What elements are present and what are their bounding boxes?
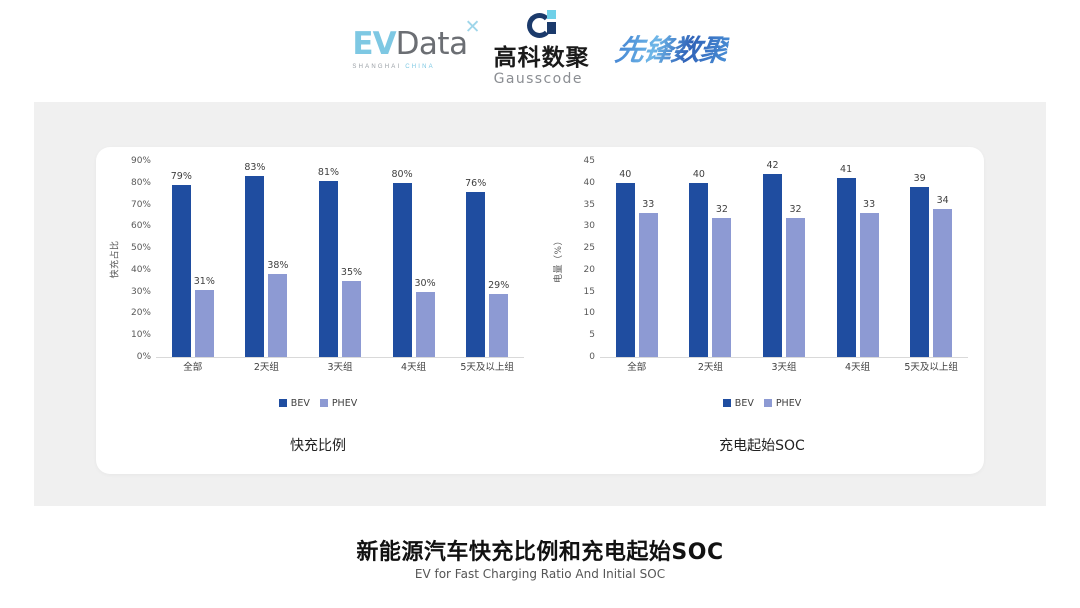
legend-swatch-icon	[764, 399, 772, 407]
y-tick: 20%	[131, 308, 151, 318]
chart-initial-soc: 电量（%） 45 40 35 30 25 20 15 10 5 0 403	[540, 147, 984, 474]
legend-item-bev[interactable]: BEV	[723, 398, 754, 409]
x-axis-labels-left: 全部2天组3天组4天组5天及以上组	[156, 359, 524, 377]
plot-area-right: 40334032423241333934	[600, 161, 968, 358]
bar-group: 81%35%	[303, 161, 377, 357]
bar-value-label: 38%	[267, 260, 288, 271]
bar-group: 4033	[600, 161, 674, 357]
y-tick: 20	[584, 265, 595, 275]
bar-phev: 33	[860, 213, 879, 357]
y-tick: 45	[584, 156, 595, 166]
evdata-tagline-city: SHANGHAI	[352, 64, 401, 70]
bar-value-label: 33	[642, 199, 654, 210]
bar-value-label: 41	[840, 164, 852, 175]
bar-value-label: 40	[619, 169, 631, 180]
bar-bev: 39	[910, 187, 929, 357]
legend-label: PHEV	[776, 398, 801, 409]
bar-phev: 29%	[489, 294, 508, 357]
chart-caption-left: 快充比例	[96, 435, 540, 455]
y-tick: 40%	[131, 265, 151, 275]
bar-value-label: 40	[693, 169, 705, 180]
y-tick: 10%	[131, 330, 151, 340]
y-tick: 80%	[131, 178, 151, 188]
y-tick: 90%	[131, 156, 151, 166]
bar-phev: 38%	[268, 274, 287, 357]
legend-label: BEV	[291, 398, 310, 409]
y-tick: 0	[589, 352, 595, 362]
x-axis-tick-label: 全部	[600, 359, 674, 377]
evdata-prefix: EV	[352, 26, 395, 62]
page-subtitle: EV for Fast Charging Ratio And Initial S…	[0, 567, 1080, 581]
bar-value-label: 39	[914, 173, 926, 184]
y-axis-ticks-right: 45 40 35 30 25 20 15 10 5 0	[564, 161, 598, 357]
bar-value-label: 79%	[171, 171, 192, 182]
bar-value-label: 33	[863, 199, 875, 210]
bar-phev: 35%	[342, 281, 361, 357]
x-axis-tick-label: 2天组	[674, 359, 748, 377]
content-panel: 快充占比 90% 80% 70% 60% 50% 40% 30% 20% 10%…	[34, 102, 1046, 506]
legend-swatch-icon	[723, 399, 731, 407]
x-axis-tick-label: 4天组	[821, 359, 895, 377]
bar-value-label: 76%	[465, 178, 486, 189]
x-axis-tick-label: 5天及以上组	[894, 359, 968, 377]
charts-card: 快充占比 90% 80% 70% 60% 50% 40% 30% 20% 10%…	[96, 147, 984, 474]
bar-bev: 76%	[466, 192, 485, 358]
xianfeng-wordmark: 先锋数聚	[612, 27, 731, 69]
bar-bev: 40	[616, 183, 635, 357]
bar-value-label: 30%	[415, 278, 436, 289]
evdata-suffix: Data	[396, 26, 468, 62]
y-tick: 30	[584, 221, 595, 231]
bar-phev: 30%	[416, 292, 435, 357]
bar-bev: 83%	[245, 176, 264, 357]
bar-bev: 79%	[172, 185, 191, 357]
bar-group: 83%38%	[230, 161, 304, 357]
bar-group: 4032	[674, 161, 748, 357]
bar-phev: 33	[639, 213, 658, 357]
y-tick: 70%	[131, 200, 151, 210]
bar-bev: 42	[763, 174, 782, 357]
logo-xianfeng: 先锋数聚	[616, 27, 728, 69]
gausscode-cn-name: 高科数聚	[494, 47, 590, 70]
y-tick: 40	[584, 178, 595, 188]
bar-value-label: 29%	[488, 280, 509, 291]
y-axis-ticks-left: 90% 80% 70% 60% 50% 40% 30% 20% 10% 0%	[120, 161, 154, 357]
bar-group: 76%29%	[450, 161, 524, 357]
legend-item-phev[interactable]: PHEV	[764, 398, 801, 409]
bar-group: 79%31%	[156, 161, 230, 357]
bar-value-label: 32	[789, 204, 801, 215]
x-axis-tick-label: 4天组	[377, 359, 451, 377]
legend-label: PHEV	[332, 398, 357, 409]
chart-fast-charging-ratio: 快充占比 90% 80% 70% 60% 50% 40% 30% 20% 10%…	[96, 147, 540, 474]
bar-value-label: 80%	[392, 169, 413, 180]
bar-phev: 32	[786, 218, 805, 357]
bar-bev: 81%	[319, 181, 338, 357]
y-tick: 35	[584, 200, 595, 210]
bar-value-label: 34	[937, 195, 949, 206]
y-tick: 30%	[131, 287, 151, 297]
y-tick: 50%	[131, 243, 151, 253]
x-axis-labels-right: 全部2天组3天组4天组5天及以上组	[600, 359, 968, 377]
gausscode-en-name: Gausscode	[494, 72, 590, 86]
x-axis-tick-label: 5天及以上组	[450, 359, 524, 377]
y-tick: 60%	[131, 221, 151, 231]
x-axis-tick-label: 2天组	[230, 359, 304, 377]
evdata-x-icon: ✕	[465, 16, 481, 39]
legend-item-bev[interactable]: BEV	[279, 398, 310, 409]
logo-evdata: EV Data ✕ SHANGHAI CHINA	[352, 26, 467, 70]
bar-phev: 32	[712, 218, 731, 357]
y-tick: 15	[584, 287, 595, 297]
bar-phev: 34	[933, 209, 952, 357]
bar-value-label: 83%	[244, 162, 265, 173]
bar-bev: 40	[689, 183, 708, 357]
bar-value-label: 35%	[341, 267, 362, 278]
bar-group: 4232	[747, 161, 821, 357]
bar-phev: 31%	[195, 290, 214, 358]
y-tick: 5	[589, 330, 595, 340]
bar-value-label: 42	[766, 160, 778, 171]
bar-group: 3934	[894, 161, 968, 357]
bar-bev: 41	[837, 178, 856, 357]
x-axis-tick-label: 3天组	[747, 359, 821, 377]
x-axis-tick-label: 全部	[156, 359, 230, 377]
x-axis-tick-label: 3天组	[303, 359, 377, 377]
y-tick: 0%	[137, 352, 151, 362]
logo-bar: EV Data ✕ SHANGHAI CHINA 高科数聚 Gausscode …	[0, 18, 1080, 78]
legend-left: BEVPHEV	[96, 395, 540, 411]
legend-swatch-icon	[320, 399, 328, 407]
legend-right: BEVPHEV	[540, 395, 984, 411]
bar-bev: 80%	[393, 183, 412, 357]
y-tick: 10	[584, 308, 595, 318]
legend-item-phev[interactable]: PHEV	[320, 398, 357, 409]
bar-value-label: 31%	[194, 276, 215, 287]
logo-gausscode: 高科数聚 Gausscode	[494, 10, 590, 86]
chart-caption-right: 充电起始SOC	[540, 435, 984, 455]
charts-container: 快充占比 90% 80% 70% 60% 50% 40% 30% 20% 10%…	[96, 147, 984, 474]
gausscode-c-mark-icon	[527, 10, 557, 40]
evdata-tagline-country: CHINA	[405, 64, 435, 70]
bar-group: 4133	[821, 161, 895, 357]
y-tick: 25	[584, 243, 595, 253]
plot-area-left: 79%31%83%38%81%35%80%30%76%29%	[156, 161, 524, 358]
page-title: 新能源汽车快充比例和充电起始SOC	[0, 534, 1080, 566]
bar-group: 80%30%	[377, 161, 451, 357]
legend-swatch-icon	[279, 399, 287, 407]
evdata-wordmark: EV Data ✕	[352, 26, 467, 62]
legend-label: BEV	[735, 398, 754, 409]
evdata-tagline: SHANGHAI CHINA	[352, 64, 467, 70]
bar-value-label: 81%	[318, 167, 339, 178]
bar-value-label: 32	[716, 204, 728, 215]
